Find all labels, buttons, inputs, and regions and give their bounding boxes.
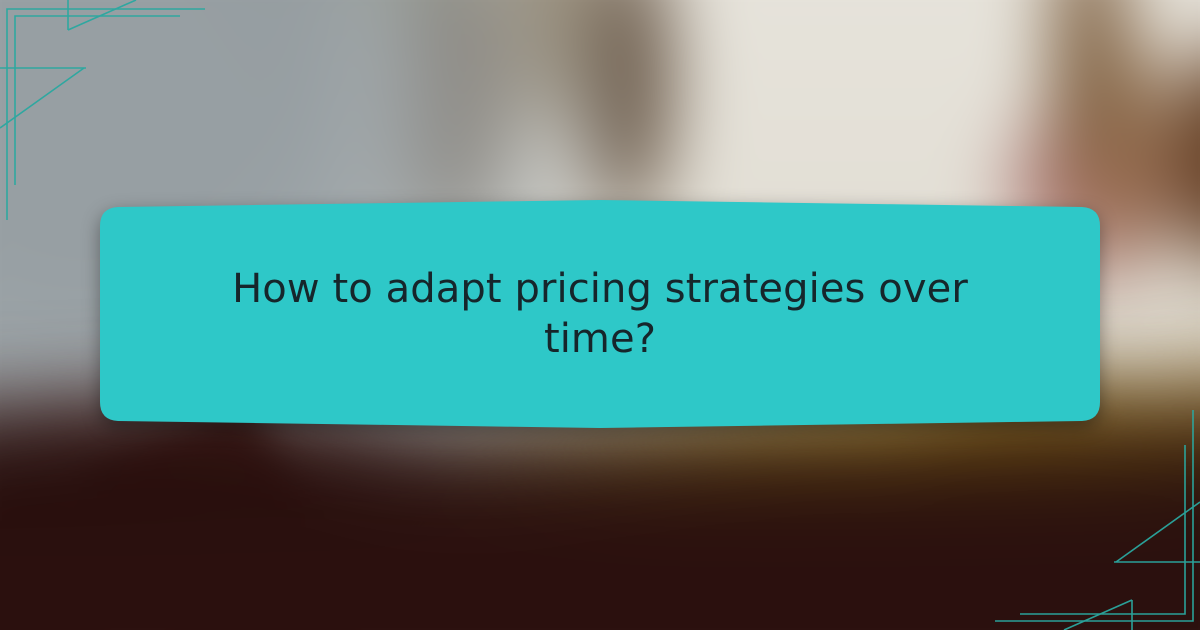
poster-canvas: How to adapt pricing strategies over tim… (0, 0, 1200, 630)
question-card: How to adapt pricing strategies over tim… (100, 200, 1100, 428)
question-text: How to adapt pricing strategies over tim… (100, 200, 1100, 428)
